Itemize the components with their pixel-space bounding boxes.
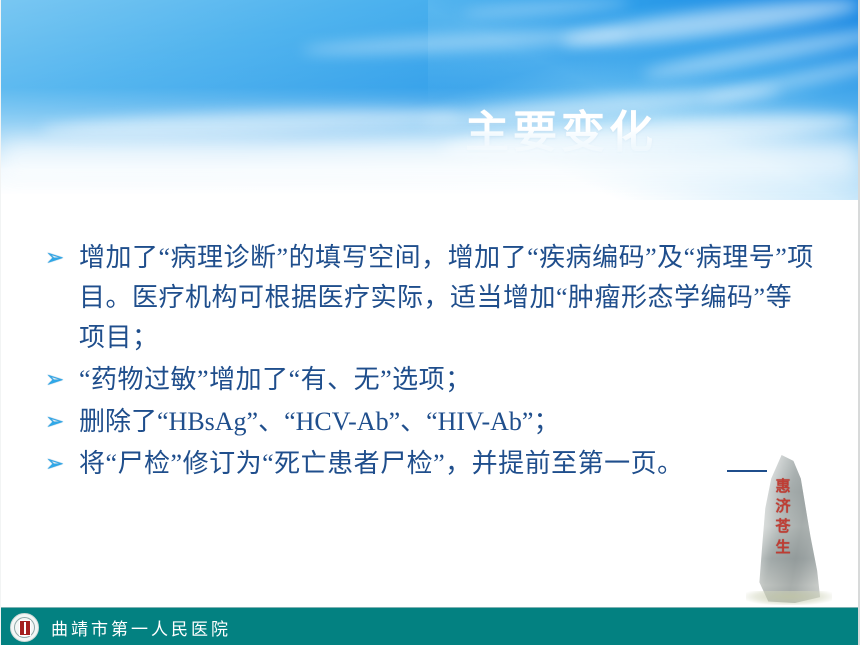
stone-char: 惠: [775, 479, 790, 495]
stone-char: 济: [775, 499, 790, 515]
stone-base: [746, 591, 832, 605]
arrow-bullet-icon: ➢: [45, 238, 75, 278]
bullet-list: ➢ 增加了“病理诊断”的填写空间，增加了“疾病编码”及“病理号”项目。医疗机构可…: [45, 238, 817, 486]
slide-title: 主要变化: [1, 96, 860, 160]
emblem-center: [19, 620, 31, 636]
presentation-slide: 主要变化 ➢ 增加了“病理诊断”的填写空间，增加了“疾病编码”及“病理号”项目。…: [0, 0, 860, 645]
list-item: ➢ 将“尸检”修订为“死亡患者尸检”，并提前至第一页。: [45, 444, 817, 484]
stone-monument-image: 惠 济 苍 生: [740, 455, 844, 610]
slide-footer: 曲靖市第一人民医院: [1, 607, 860, 645]
hospital-emblem-icon: [10, 613, 39, 642]
stone-char: 生: [775, 540, 790, 556]
organization-name: 曲靖市第一人民医院: [51, 615, 231, 640]
list-item-text: 增加了“病理诊断”的填写空间，增加了“疾病编码”及“病理号”项目。医疗机构可根据…: [75, 238, 817, 358]
arrow-bullet-icon: ➢: [45, 402, 75, 442]
list-item: ➢ 删除了“HBsAg”、“HCV-Ab”、“HIV-Ab”；: [45, 402, 817, 442]
stone-inscription: 惠 济 苍 生: [770, 479, 796, 556]
arrow-bullet-icon: ➢: [45, 360, 75, 400]
list-item: ➢ 增加了“病理诊断”的填写空间，增加了“疾病编码”及“病理号”项目。医疗机构可…: [45, 238, 817, 358]
stone-char: 苍: [775, 519, 790, 535]
list-item-text: “药物过敏”增加了“有、无”选项；: [75, 360, 817, 400]
list-item: ➢ “药物过敏”增加了“有、无”选项；: [45, 360, 817, 400]
arrow-bullet-icon: ➢: [45, 444, 75, 484]
list-item-text: 删除了“HBsAg”、“HCV-Ab”、“HIV-Ab”；: [75, 402, 817, 442]
list-item-text: 将“尸检”修订为“死亡患者尸检”，并提前至第一页。: [75, 444, 817, 484]
